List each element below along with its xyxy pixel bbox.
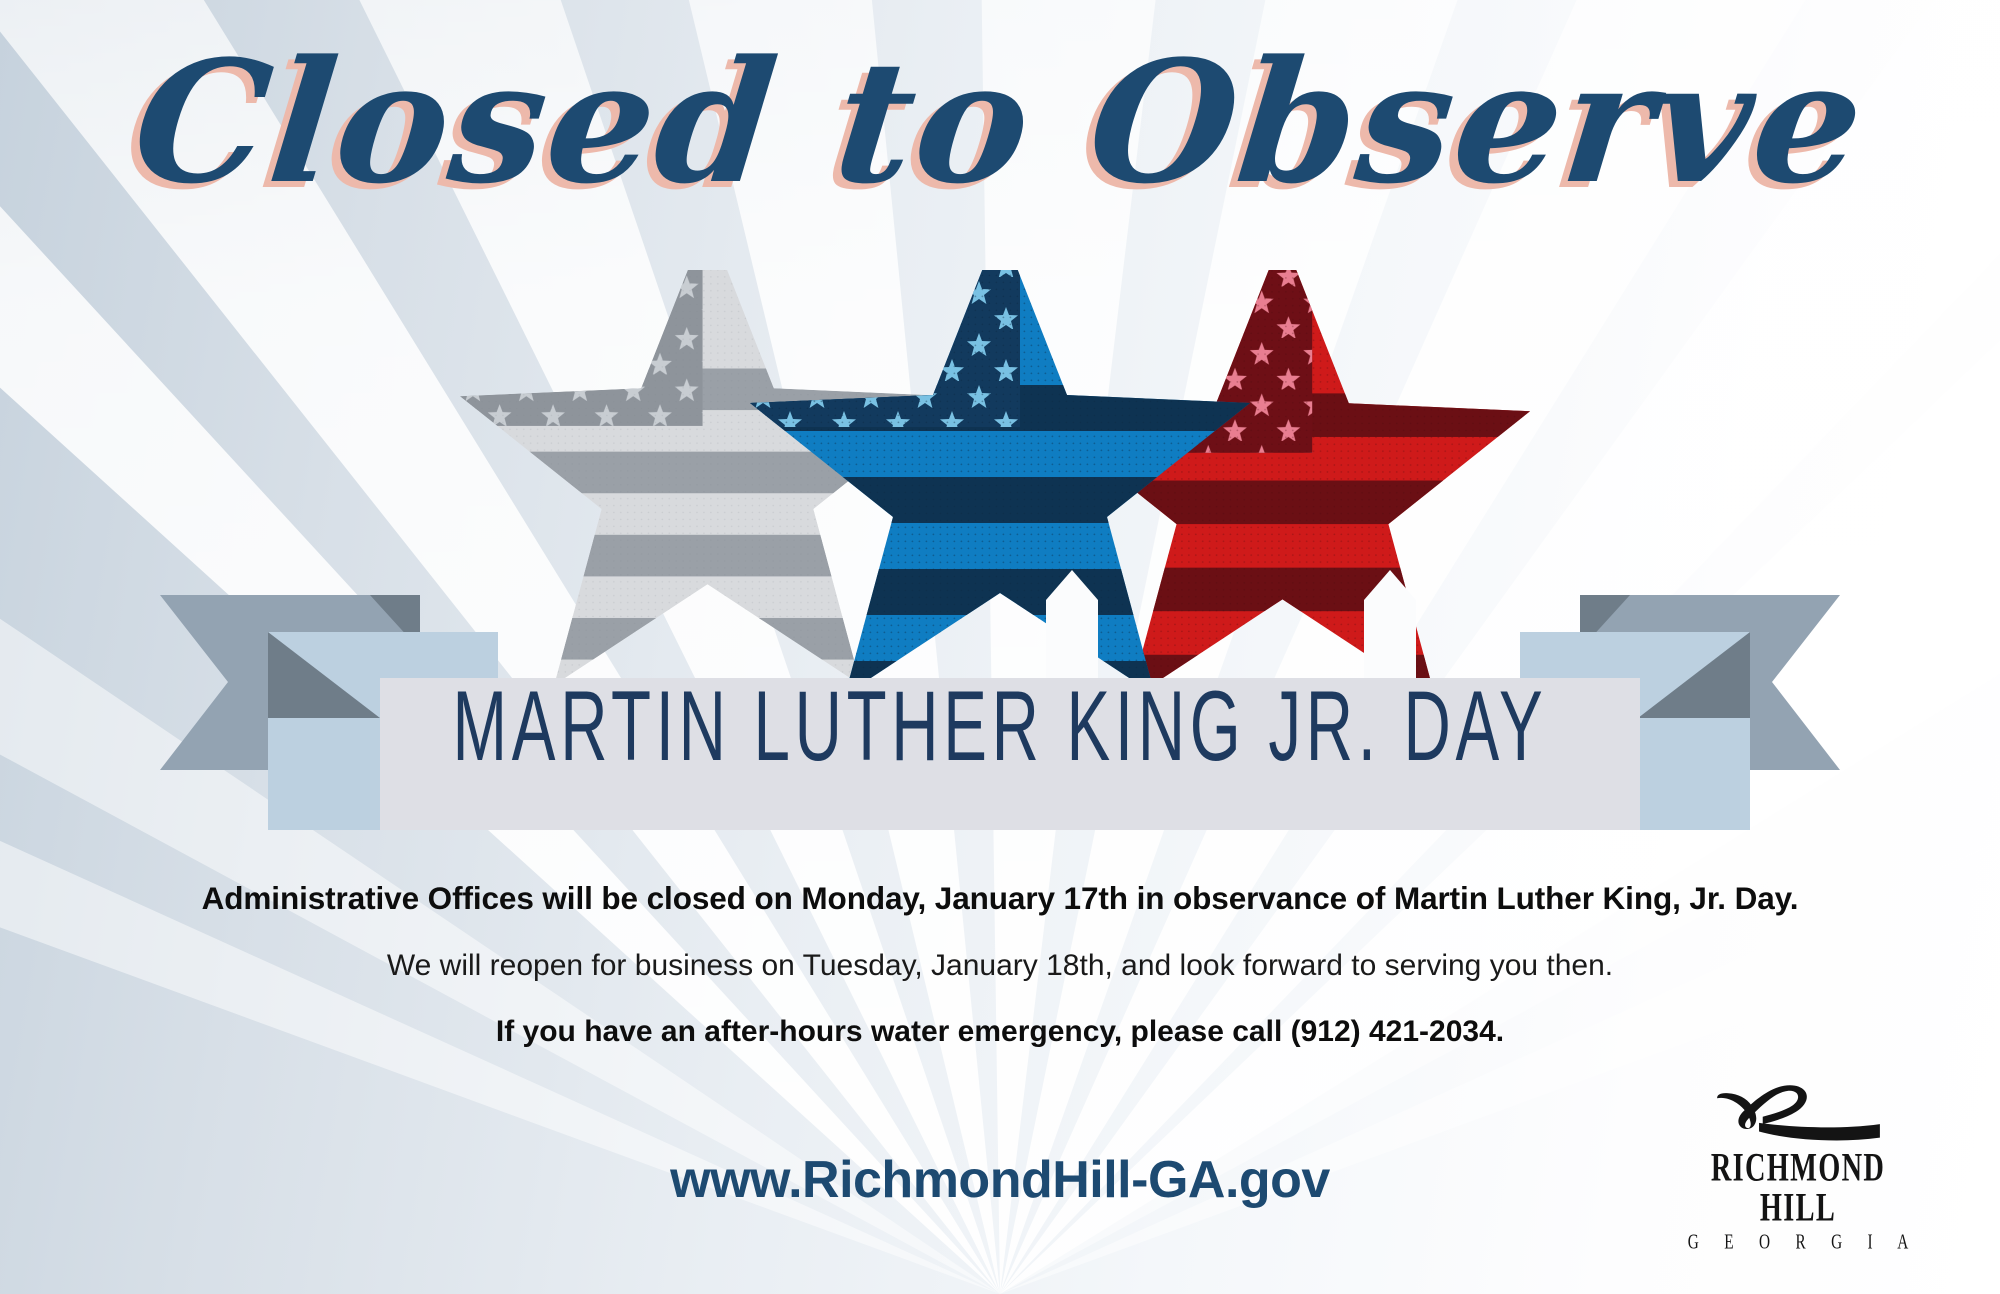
body-copy: Administrative Offices will be closed on… [0, 880, 2000, 1049]
body-line-emergency: If you have an after-hours water emergen… [0, 1015, 2000, 1049]
script-r-swoosh-icon [1706, 1076, 1891, 1150]
richmond-hill-logo: RICHMOND HILL G E O R G I A [1648, 1076, 1948, 1252]
ribbon-banner: MARTIN LUTHER KING JR. DAY [0, 570, 2000, 830]
poster-canvas: Closed to Observe Closed to Observe [0, 0, 2000, 1294]
logo-state-name: G E O R G I A [1663, 1230, 1933, 1255]
body-line-closed: Administrative Offices will be closed on… [0, 880, 2000, 917]
logo-city-name: RICHMOND HILL [1669, 1149, 1927, 1230]
body-line-reopen: We will reopen for business on Tuesday, … [0, 949, 2000, 983]
banner-title-text: MARTIN LUTHER KING JR. DAY [220, 669, 1780, 783]
